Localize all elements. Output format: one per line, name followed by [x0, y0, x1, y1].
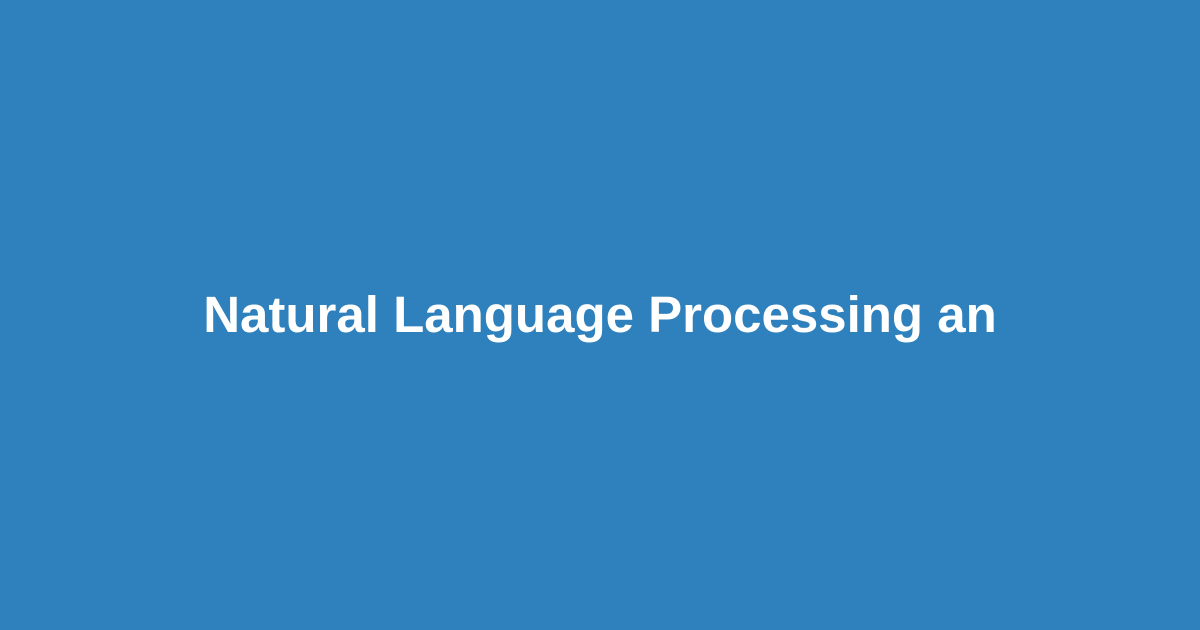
card-content: Natural Language Processing an [0, 285, 1200, 345]
social-share-card: Natural Language Processing an [0, 0, 1200, 630]
card-title: Natural Language Processing an [203, 285, 997, 345]
